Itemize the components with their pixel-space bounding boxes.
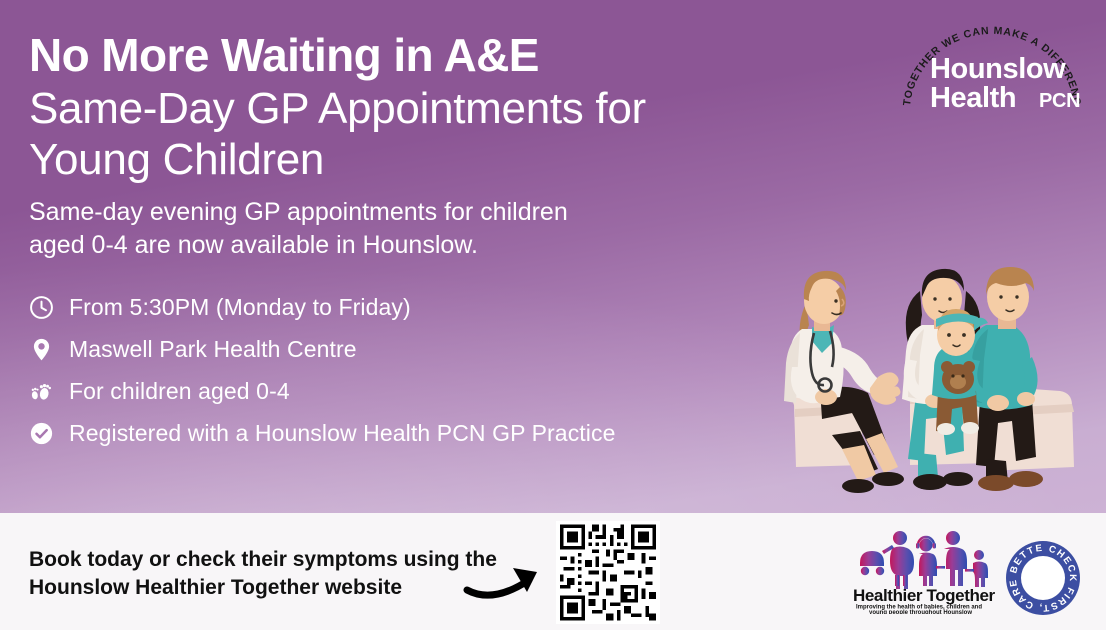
headline-line-3: Young Children: [29, 134, 819, 185]
subtitle: Same-day evening GP appointments for chi…: [29, 196, 709, 263]
healthier-together-tagline-2: young people throughout Hounslow: [869, 610, 972, 614]
curved-arrow-icon: [463, 560, 555, 606]
pcn-suffix: PCN: [1039, 90, 1080, 112]
healthier-together-logo: Healthier Together Improving the health …: [852, 529, 996, 614]
clock-icon: [26, 292, 56, 322]
doctor-consulting-family-illustration: [770, 263, 1096, 513]
list-item-registration: Registered with a Hounslow Health PCN GP…: [26, 418, 616, 448]
check-circle-icon: [26, 418, 56, 448]
subtitle-line-2: aged 0-4 are now available in Hounslow.: [29, 229, 709, 262]
poster: No More Waiting in A&E Same-Day GP Appoi…: [0, 0, 1106, 630]
qr-code[interactable]: [556, 521, 660, 624]
list-item-registration-label: Registered with a Hounslow Health PCN GP…: [69, 420, 616, 447]
pcn-name-line-2: Health: [930, 82, 1016, 114]
list-item-age: For children aged 0-4: [26, 376, 616, 406]
page-title: No More Waiting in A&E Same-Day GP Appoi…: [29, 32, 819, 185]
healthier-together-title: Healthier Together: [853, 586, 996, 605]
list-item-time: From 5:30PM (Monday to Friday): [26, 292, 616, 322]
map-pin-icon: [26, 334, 56, 364]
list-item-age-label: For children aged 0-4: [69, 378, 290, 405]
subtitle-line-1: Same-day evening GP appointments for chi…: [29, 196, 709, 229]
list-item-time-label: From 5:30PM (Monday to Friday): [69, 294, 411, 321]
details-list: From 5:30PM (Monday to Friday) Maswell P…: [26, 292, 616, 448]
list-item-location: Maswell Park Health Centre: [26, 334, 616, 364]
headline-line-1: No More Waiting in A&E: [29, 32, 819, 79]
list-item-location-label: Maswell Park Health Centre: [69, 336, 357, 363]
hounslow-health-pcn-logo: TOGETHER WE CAN MAKE A DIFFERENCE Hounsl…: [898, 16, 1084, 124]
headline-line-2: Same-Day GP Appointments for: [29, 83, 819, 134]
hero-banner: No More Waiting in A&E Same-Day GP Appoi…: [0, 0, 1106, 513]
baby-footprints-icon: [26, 376, 56, 406]
check-first-care-better-badge: CHECK FIRST, CARE BETTER: [1004, 539, 1082, 617]
pcn-name-line-1: Hounslow: [930, 53, 1066, 85]
